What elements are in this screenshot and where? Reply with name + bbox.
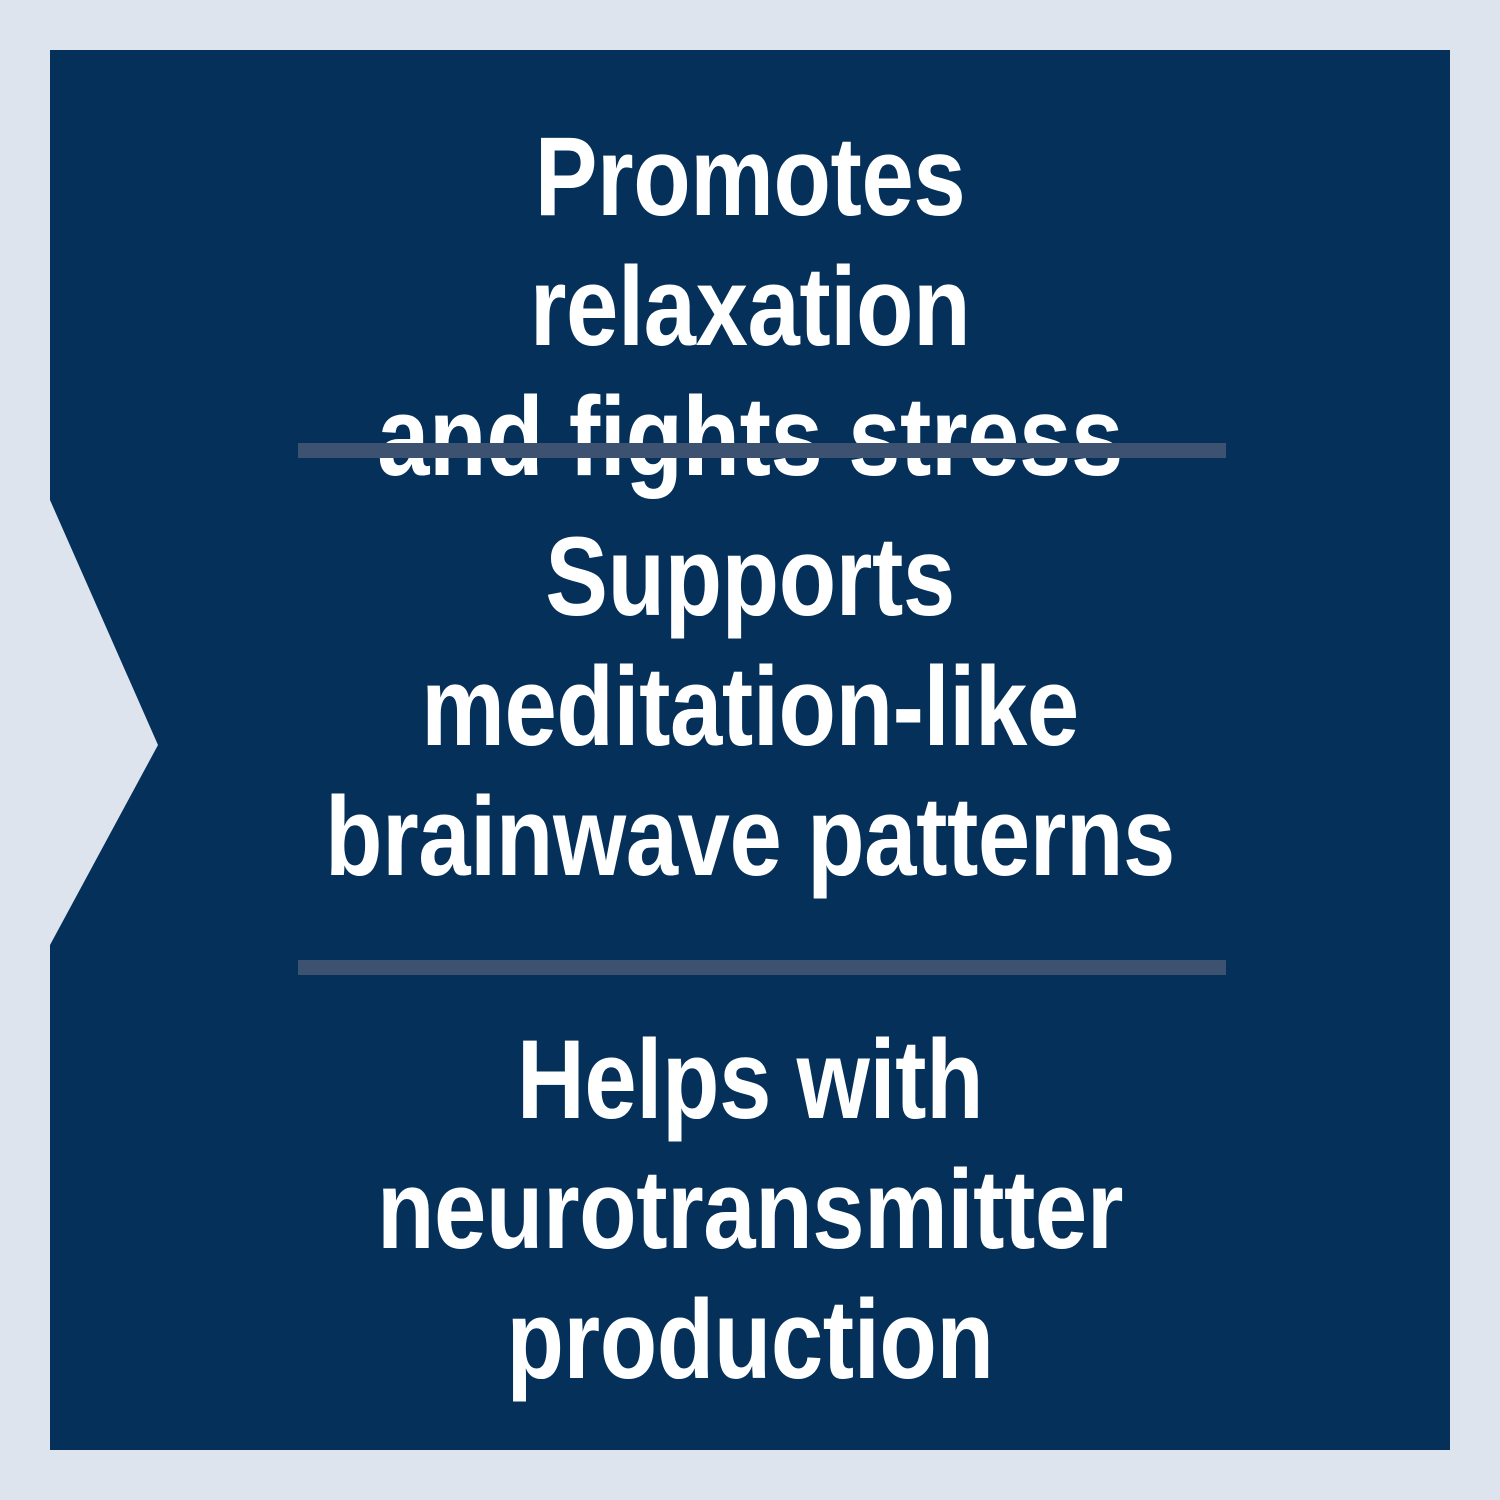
product-benefits-graphic: Promotes relaxation and fights stress Su… bbox=[0, 0, 1500, 1500]
benefit-item-neurotransmitters: Helps with neurotransmitter production bbox=[322, 1015, 1179, 1405]
benefit-divider-1 bbox=[298, 443, 1226, 458]
benefit-item-brainwaves: Supports meditation-like brainwave patte… bbox=[322, 512, 1179, 902]
benefits-list: Promotes relaxation and fights stress Su… bbox=[50, 50, 1450, 1450]
benefit-divider-2 bbox=[298, 960, 1226, 975]
